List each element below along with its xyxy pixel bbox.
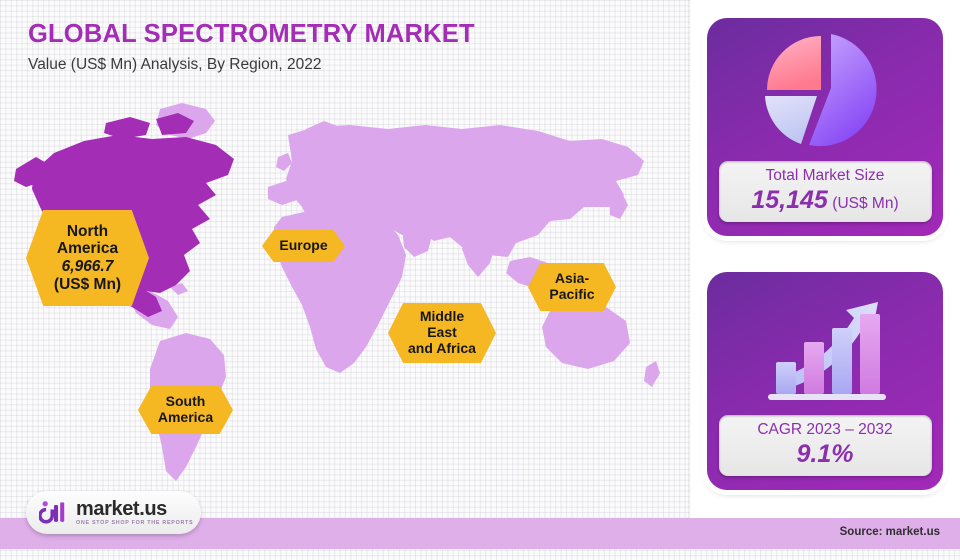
growth-bar-chart-icon [707, 272, 943, 415]
region-unit: (US$ Mn) [54, 276, 121, 294]
market-size-value-row: 15,145 (US$ Mn) [723, 187, 928, 215]
region-name-line1: North [67, 223, 108, 241]
map-label-europe[interactable]: Europe [262, 230, 345, 262]
cagr-value-row: 9.1% [723, 441, 928, 469]
market-size-card: Total Market Size 15,145 (US$ Mn) [707, 18, 943, 236]
map-label-north-america[interactable]: North America 6,966.7 (US$ Mn) [26, 210, 149, 306]
region-name-line2: America [158, 410, 213, 426]
market-us-logo[interactable]: market.us ONE STOP SHOP FOR THE REPORTS [26, 491, 201, 534]
region-name-line1: Middle [420, 309, 464, 325]
source-attribution: Source: market.us [840, 526, 940, 538]
region-name-line1: Europe [279, 238, 327, 254]
map-label-middle-east-and-africa[interactable]: Middle East and Africa [388, 303, 496, 363]
region-value: 6,966.7 [62, 258, 114, 276]
region-name-line1: Asia- [555, 271, 589, 287]
region-name-line1: South [166, 394, 206, 410]
logo-wordmark: market.us [76, 499, 193, 519]
region-name-line3: and Africa [408, 341, 476, 357]
page-subtitle: Value (US$ Mn) Analysis, By Region, 2022 [28, 56, 475, 74]
cagr-value: 9.1% [797, 440, 854, 468]
market-size-unit: (US$ Mn) [832, 195, 898, 212]
panel-divider [688, 0, 691, 520]
cagr-card: CAGR 2023 – 2032 9.1% [707, 272, 943, 490]
region-name-line2: Pacific [549, 287, 594, 303]
market-us-logo-icon [39, 500, 69, 526]
map-label-south-america[interactable]: South America [138, 386, 233, 434]
header: GLOBAL SPECTROMETRY MARKET Value (US$ Mn… [28, 20, 475, 74]
market-size-label: Total Market Size [723, 167, 928, 186]
page-title: GLOBAL SPECTROMETRY MARKET [28, 20, 475, 48]
region-name-line2: East [427, 325, 457, 341]
region-name-line2: America [57, 240, 118, 258]
cagr-label: CAGR 2023 – 2032 [723, 421, 928, 440]
pie-chart-icon [707, 18, 943, 161]
cagr-plate: CAGR 2023 – 2032 9.1% [719, 415, 932, 476]
logo-text: market.us ONE STOP SHOP FOR THE REPORTS [76, 499, 193, 526]
market-size-value: 15,145 [751, 186, 827, 214]
infographic-canvas: GLOBAL SPECTROMETRY MARKET Value (US$ Mn… [0, 0, 960, 560]
market-size-plate: Total Market Size 15,145 (US$ Mn) [719, 161, 932, 222]
map-label-asia-pacific[interactable]: Asia- Pacific [528, 263, 616, 311]
logo-tagline: ONE STOP SHOP FOR THE REPORTS [76, 521, 193, 526]
